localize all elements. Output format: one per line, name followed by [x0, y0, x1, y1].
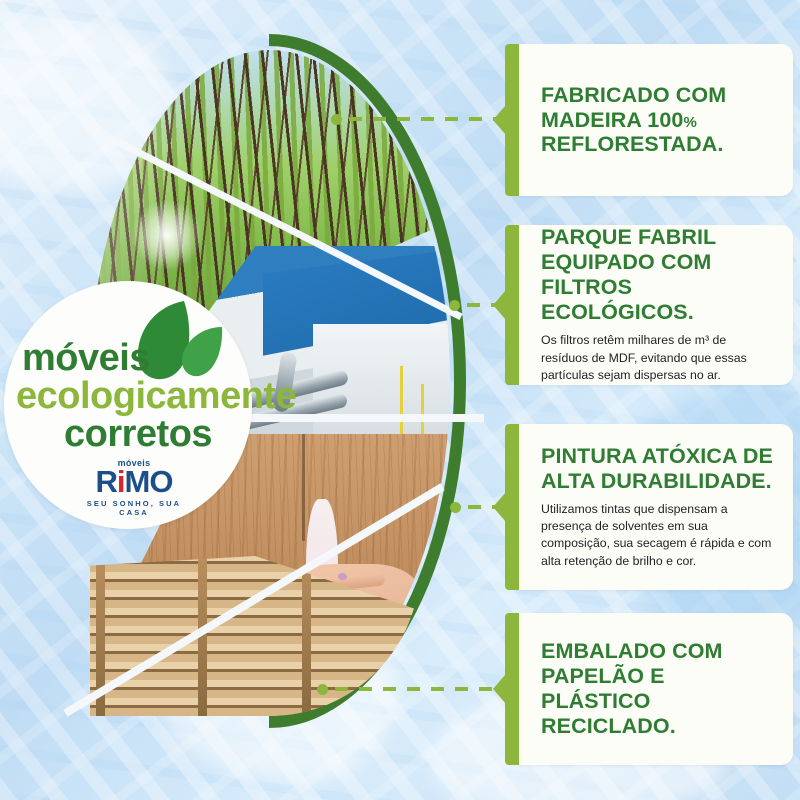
- card-tab: [505, 225, 519, 385]
- card-title: PARQUE FABRIL EQUIPADO COM FILTROS ECOLÓ…: [541, 225, 773, 325]
- rimo-letters-mo: MO: [125, 464, 173, 499]
- card-body: EMBALADO COM PAPELÃO E PLÁSTICO RECICLAD…: [519, 613, 793, 765]
- card-title: PINTURA ATÓXICA DE ALTA DURABILIDADE.: [541, 444, 773, 494]
- connector-dash: [335, 687, 513, 691]
- card-title-line-2: MADEIRA 100: [541, 108, 683, 132]
- card-pintura[interactable]: PINTURA ATÓXICA DE ALTA DURABILIDADE. Ut…: [505, 424, 793, 590]
- card-title-line-1: FABRICADO COM: [541, 83, 726, 107]
- card-title-percent: %: [683, 114, 696, 131]
- wood-seam: [302, 434, 305, 541]
- rimo-letter-i: i: [117, 464, 125, 499]
- card-title: EMBALADO COM PAPELÃO E PLÁSTICO RECICLAD…: [541, 639, 773, 739]
- card-filtros[interactable]: PARQUE FABRIL EQUIPADO COM FILTROS ECOLÓ…: [505, 225, 793, 385]
- connector-dot: [450, 502, 461, 513]
- rimo-tagline: SEU SONHO, SUA CASA: [74, 499, 194, 517]
- card-tab: [505, 44, 519, 196]
- rimo-brand-logo: móveis RiMO SEU SONHO, SUA CASA: [74, 459, 194, 517]
- card-embalagem[interactable]: EMBALADO COM PAPELÃO E PLÁSTICO RECICLAD…: [505, 613, 793, 765]
- card-tab: [505, 424, 519, 590]
- sun-flare: [132, 200, 202, 270]
- connector-dash: [349, 117, 513, 121]
- infographic-canvas: móveis ecologicamente corretos móveis Ri…: [0, 0, 800, 800]
- connector-dot: [331, 114, 342, 125]
- card-body: FABRICADO COM MADEIRA 100% REFLORESTADA.: [519, 44, 793, 196]
- card-reflorestada[interactable]: FABRICADO COM MADEIRA 100% REFLORESTADA.: [505, 44, 793, 196]
- card-tab: [505, 613, 519, 765]
- card-title: FABRICADO COM MADEIRA 100% REFLORESTADA.: [541, 83, 773, 158]
- eco-logo-badge: móveis ecologicamente corretos móveis Ri…: [4, 281, 252, 529]
- connector-4: [317, 686, 513, 692]
- badge-line-2: ecologicamente: [16, 377, 296, 415]
- rimo-letter-r: R: [96, 464, 117, 499]
- card-description: Utilizamos tintas que dispensam a presen…: [541, 501, 773, 571]
- connector-dot: [449, 300, 460, 311]
- card-body: PINTURA ATÓXICA DE ALTA DURABILIDADE. Ut…: [519, 424, 793, 590]
- connector-1: [331, 116, 513, 122]
- card-description: Os filtros retêm milhares de m³ de resíd…: [541, 332, 773, 384]
- badge-line-3: corretos: [64, 415, 212, 453]
- card-body: PARQUE FABRIL EQUIPADO COM FILTROS ECOLÓ…: [519, 225, 793, 385]
- pallet-post: [302, 556, 311, 716]
- rimo-wordmark: RiMO: [74, 468, 194, 497]
- card-title-line-3: REFLORESTADA.: [541, 132, 723, 156]
- connector-dot: [317, 684, 328, 695]
- badge-line-1: móveis: [22, 339, 150, 377]
